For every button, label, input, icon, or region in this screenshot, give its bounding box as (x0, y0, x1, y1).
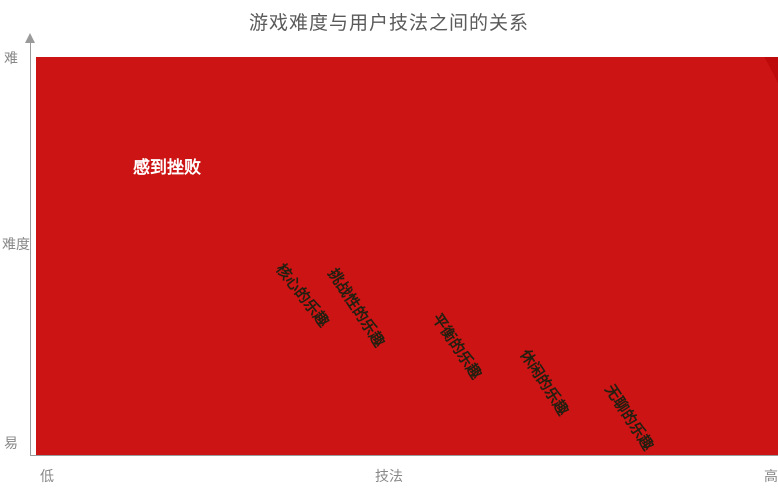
x-axis-right-label: 高 (764, 466, 778, 486)
y-axis-top-label: 难 (4, 48, 18, 68)
chart-title: 游戏难度与用户技法之间的关系 (0, 8, 778, 35)
y-axis-line (30, 42, 31, 455)
y-axis-bottom-label: 易 (4, 433, 18, 453)
plot-area: 感到挫败 核心的乐趣 挑战性的乐趣 平衡的乐趣 休闲的乐趣 无聊的乐趣 无聊 (36, 57, 778, 455)
band-bored (36, 57, 778, 455)
x-axis-title: 技法 (0, 466, 778, 486)
difficulty-skill-arc-bands (36, 57, 778, 455)
x-axis-line (30, 455, 778, 456)
chart-root: 游戏难度与用户技法之间的关系 感到挫败 核心的乐趣 挑战性的乐趣 平衡的乐趣 休… (0, 0, 778, 494)
y-axis-title: 难度 (2, 236, 18, 255)
